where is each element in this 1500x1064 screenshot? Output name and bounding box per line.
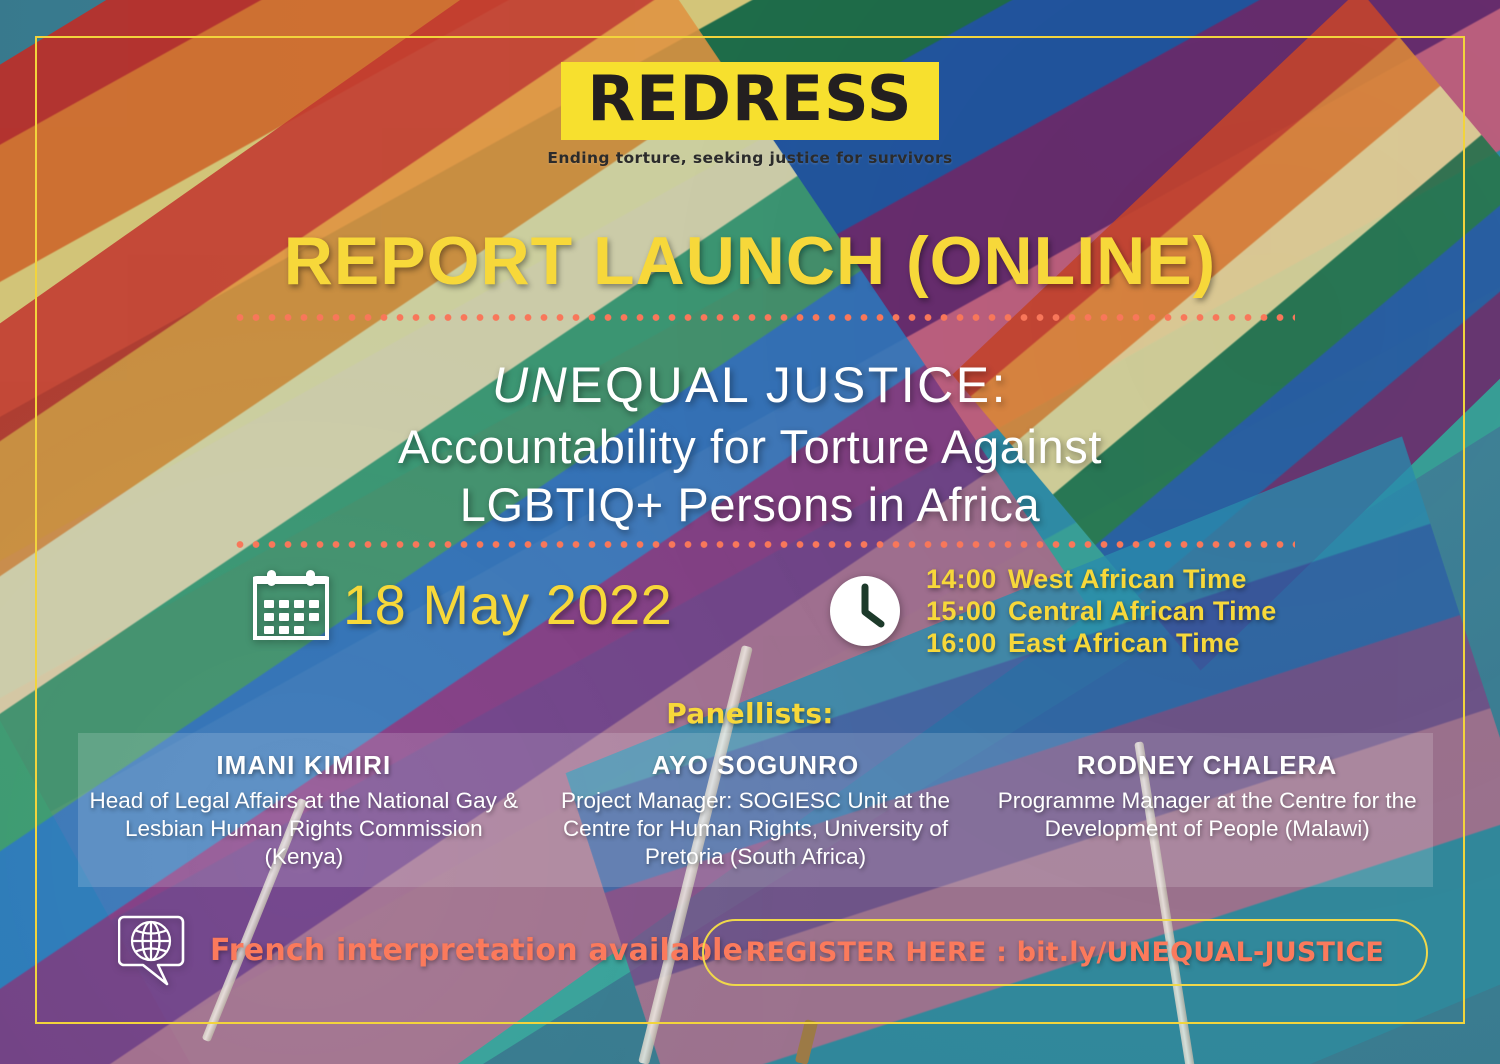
globe-speech-bubble-icon: [118, 913, 192, 987]
subtitle-line-3: LGBTIQ+ Persons in Africa: [0, 476, 1500, 534]
clock-icon: [828, 574, 902, 648]
panellist-name: IMANI KIMIRI: [88, 750, 520, 781]
panellist-role: Project Manager: SOGIESC Unit at the Cen…: [540, 787, 972, 871]
subtitle-line-2: Accountability for Torture Against: [0, 418, 1500, 476]
panellist-item: IMANI KIMIRI Head of Legal Affairs at th…: [78, 750, 530, 871]
logo-wordmark: REDRESS: [587, 68, 912, 130]
event-date-text: 18 May 2022: [343, 572, 672, 637]
panellists-heading: Panellists:: [0, 697, 1500, 730]
time-value: 14:00: [926, 564, 1008, 595]
subtitle-italic-prefix: UN: [492, 357, 569, 413]
logo-yellow-box: REDRESS: [561, 62, 938, 140]
subtitle-line-1-rest: EQUAL JUSTICE:: [569, 357, 1008, 413]
event-meta-row: 18 May 2022 14:00West African Time 15:00…: [0, 564, 1500, 674]
report-subtitle: UNEQUAL JUSTICE: Accountability for Tort…: [0, 356, 1500, 535]
time-row: 16:00East African Time: [926, 628, 1277, 659]
panellist-item: AYO SOGUNRO Project Manager: SOGIESC Uni…: [530, 750, 982, 871]
subtitle-line-1: UNEQUAL JUSTICE:: [0, 356, 1500, 414]
time-zone-label: West African Time: [1008, 564, 1247, 594]
footer-row: French interpretation available REGISTER…: [0, 905, 1500, 1015]
panellist-item: RODNEY CHALERA Programme Manager at the …: [981, 750, 1433, 871]
time-row: 15:00Central African Time: [926, 596, 1277, 627]
time-value: 15:00: [926, 596, 1008, 627]
time-row: 14:00West African Time: [926, 564, 1277, 595]
time-value: 16:00: [926, 628, 1008, 659]
dotted-divider-top: [232, 313, 1295, 322]
logo-tagline: Ending torture, seeking justice for surv…: [0, 149, 1500, 167]
time-zone-label: East African Time: [1008, 628, 1240, 658]
dotted-divider-bottom: [232, 540, 1295, 549]
time-zone-label: Central African Time: [1008, 596, 1277, 626]
event-times: 14:00West African Time 15:00Central Afri…: [828, 564, 1277, 659]
register-button[interactable]: REGISTER HERE : bit.ly/UNEQUAL-JUSTICE: [702, 919, 1428, 986]
panellist-role: Head of Legal Affairs at the National Ga…: [88, 787, 520, 871]
page-title: REPORT LAUNCH (ONLINE): [0, 222, 1500, 300]
event-date: 18 May 2022: [253, 568, 672, 640]
redress-logo: REDRESS Ending torture, seeking justice …: [0, 62, 1500, 167]
panellist-name: AYO SOGUNRO: [540, 750, 972, 781]
interpretation-text: French interpretation available: [210, 933, 743, 968]
panellists-grid: IMANI KIMIRI Head of Legal Affairs at th…: [78, 750, 1433, 871]
panellist-name: RODNEY CHALERA: [991, 750, 1423, 781]
register-button-label: REGISTER HERE : bit.ly/UNEQUAL-JUSTICE: [746, 937, 1384, 968]
time-zone-list: 14:00West African Time 15:00Central Afri…: [926, 564, 1277, 659]
panellist-role: Programme Manager at the Centre for the …: [991, 787, 1423, 843]
interpretation-notice: French interpretation available: [118, 913, 743, 987]
calendar-icon: [253, 568, 329, 640]
